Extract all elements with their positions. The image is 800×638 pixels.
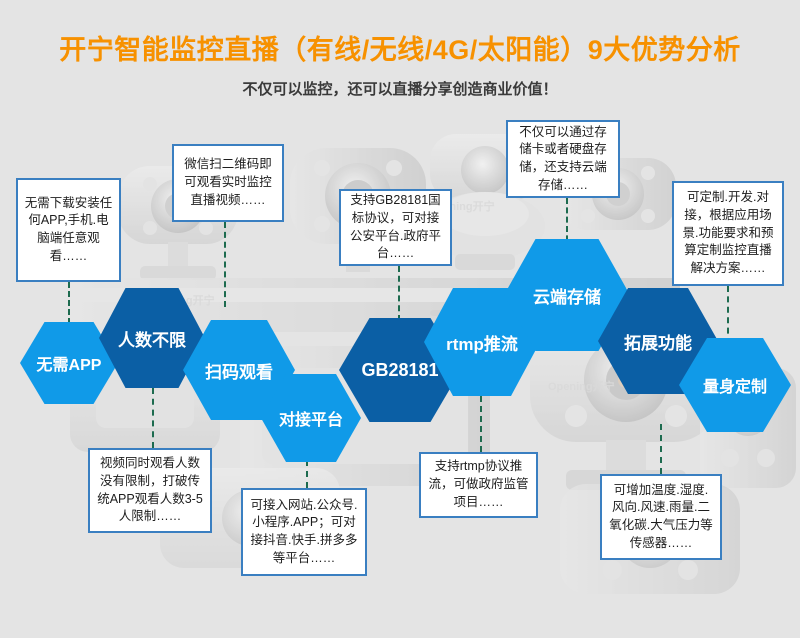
callout-rtmp-push-note: 支持rtmp协议推流，可做政府监管项目…… xyxy=(419,452,538,518)
hex-label: 人数不限 xyxy=(116,326,188,351)
callout-scan-watch-note: 微信扫二维码即可观看实时监控直播视频…… xyxy=(172,144,284,222)
hex-label: 扫码观看 xyxy=(203,358,275,383)
callout-text: 支持rtmp协议推流，可做政府监管项目…… xyxy=(427,458,530,511)
callout-text: 支持GB28181国标协议，可对接公安平台.政府平台…… xyxy=(347,192,444,263)
callout-text: 可定制.开发.对接，根据应用场景.功能要求和预算定制监控直播解决方案…… xyxy=(680,189,776,278)
connector-custom xyxy=(727,286,729,344)
hex-label: 无需APP xyxy=(35,351,104,375)
connector-extend xyxy=(660,424,662,474)
callout-text: 可接入网站.公众号.小程序.APP；可对接抖音.快手.拼多多等平台…… xyxy=(249,497,359,568)
hex-label: 量身定制 xyxy=(701,373,769,397)
callout-unlimited-note: 视频同时观看人数没有限制，打破传统APP观看人数3-5人限制…… xyxy=(88,448,212,533)
connector-scan-watch xyxy=(224,222,226,307)
callout-custom-note: 可定制.开发.对接，根据应用场景.功能要求和预算定制监控直播解决方案…… xyxy=(672,181,784,286)
svg-text:Opening开宁: Opening开宁 xyxy=(548,379,615,393)
connector-rtmp-push xyxy=(480,396,482,452)
callout-no-app-note: 无需下载安装任何APP,手机.电脑端任意观看…… xyxy=(16,178,121,282)
callout-text: 可增加温度.湿度.风向.风速.雨量.二氧化碳.大气压力等传感器…… xyxy=(608,482,714,553)
hex-label: rtmp推流 xyxy=(444,330,520,355)
hex-label: GB28181 xyxy=(359,360,440,381)
callout-text: 视频同时观看人数没有限制，打破传统APP观看人数3-5人限制…… xyxy=(96,455,204,526)
callout-text: 微信扫二维码即可观看实时监控直播视频…… xyxy=(180,156,276,209)
callout-extend-note: 可增加温度.湿度.风向.风速.雨量.二氧化碳.大气压力等传感器…… xyxy=(600,474,722,560)
callout-text: 不仅可以通过存储卡或者硬盘存储，还支持云端存储…… xyxy=(514,124,612,195)
callout-text: 无需下载安装任何APP,手机.电脑端任意观看…… xyxy=(24,195,113,266)
page-title: 开宁智能监控直播（有线/无线/4G/太阳能）9大优势分析 xyxy=(0,28,800,67)
callout-platform-dock-note: 可接入网站.公众号.小程序.APP；可对接抖音.快手.拼多多等平台…… xyxy=(241,488,367,576)
callout-cloud-storage-note: 不仅可以通过存储卡或者硬盘存储，还支持云端存储…… xyxy=(506,120,620,198)
hex-label: 对接平台 xyxy=(277,406,345,430)
page-subtitle: 不仅可以监控，还可以直播分享创造商业价值！ xyxy=(0,78,800,99)
hex-label: 云端存储 xyxy=(531,283,603,308)
hex-label: 拓展功能 xyxy=(622,329,694,354)
connector-gb28181 xyxy=(398,266,400,321)
infographic-canvas: Opening开宁 Opening开宁 Opening开宁 Opening开宁 … xyxy=(0,0,800,638)
connector-no-app xyxy=(68,282,70,324)
callout-gb28181-note: 支持GB28181国标协议，可对接公安平台.政府平台…… xyxy=(339,189,452,266)
connector-unlimited xyxy=(152,388,154,448)
